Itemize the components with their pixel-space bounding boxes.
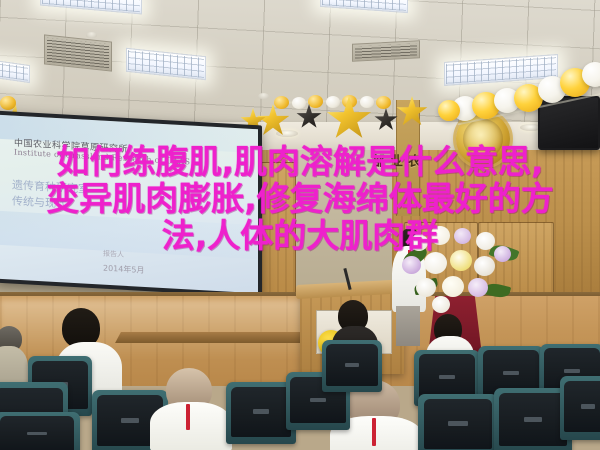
auditorium-seat <box>0 412 80 450</box>
balloon <box>274 96 289 109</box>
smoke-detector-icon <box>86 32 97 38</box>
stage-step-nosing <box>115 332 331 343</box>
balloon <box>292 97 306 109</box>
audience-body <box>150 402 232 450</box>
smoke-detector-icon <box>258 93 269 99</box>
balloon <box>360 96 374 108</box>
auditorium-seat <box>560 376 600 440</box>
floor-reflection <box>0 300 330 360</box>
screen-date: 2014年5月 <box>103 263 144 276</box>
screen-body-text: 遗传育种研究室传统与现代 <box>12 178 89 214</box>
ceiling-air-vent <box>352 40 420 62</box>
photo-screenshot: 农 业 部 中国农业科学院草原研究所 Institute of Grasslan… <box>0 0 600 450</box>
balloon <box>438 100 460 121</box>
balloon <box>0 96 16 110</box>
audience-lanyard <box>186 404 190 430</box>
banner-char: 农 <box>406 154 419 167</box>
projection-screen: 中国农业科学院草原研究所 Institute of Grassland Rese… <box>0 111 262 298</box>
balloon <box>308 95 323 108</box>
balloon <box>376 96 391 109</box>
screen-presenter-label: 报告人 <box>103 249 124 260</box>
audience-head <box>342 288 368 314</box>
auditorium-seat <box>322 340 382 392</box>
presenter-legs <box>396 306 420 346</box>
balloon <box>326 96 340 108</box>
auditorium-seat <box>418 394 498 450</box>
audience-lanyard <box>372 418 376 446</box>
banner-char: 业 <box>388 154 401 167</box>
flower-arrangement <box>398 222 518 308</box>
banner-char: 部 <box>370 154 383 167</box>
